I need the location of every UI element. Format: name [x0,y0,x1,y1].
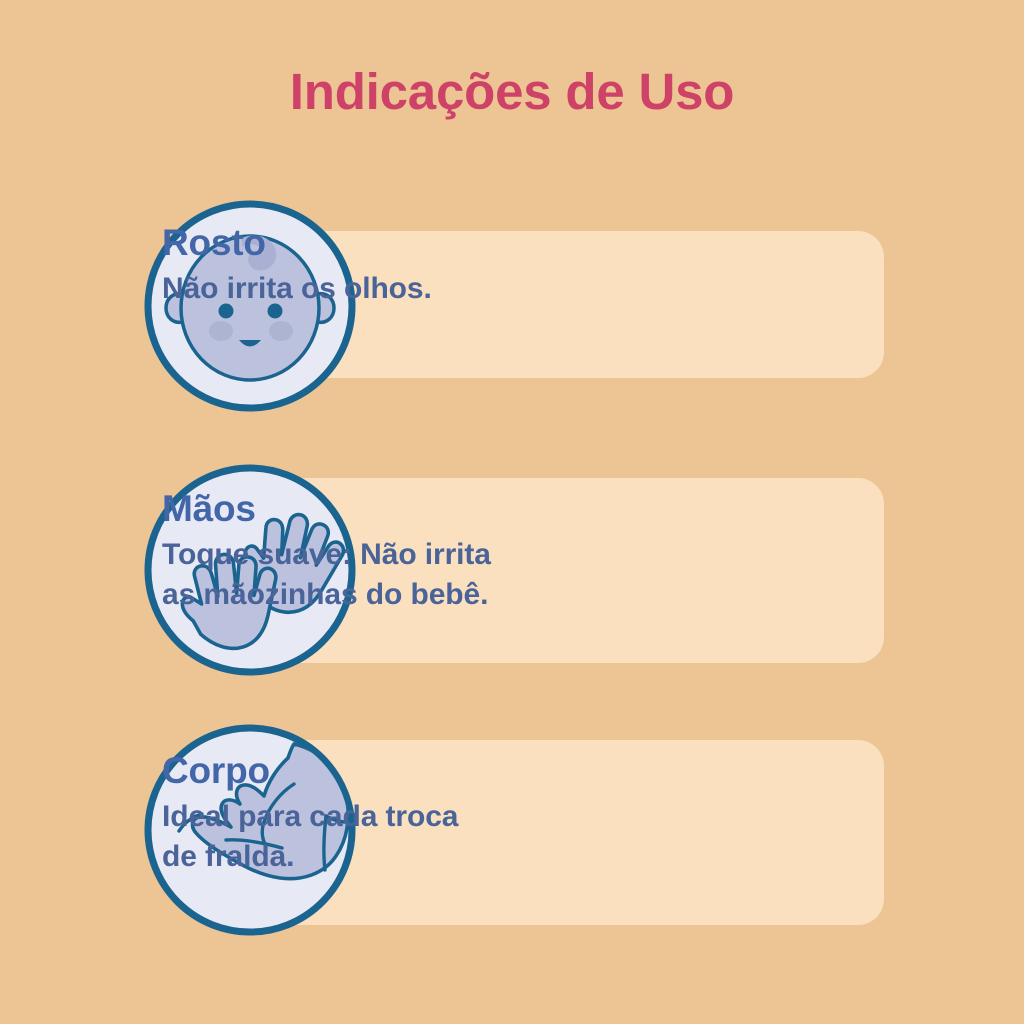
item-title: Corpo [162,752,994,789]
item-description: Toque suave: Não irrita as mãozinhas do … [162,535,994,615]
item-description: Não irrita os olhos. [162,269,994,309]
item-description: Ideal para cada troca de fralda. [162,797,994,877]
item-title: Mãos [162,490,994,527]
item-title: Rosto [162,224,994,261]
item-text-block: Rosto Não irrita os olhos. [162,224,994,309]
usage-item-corpo: Corpo Ideal para cada troca de fralda. [0,722,1024,934]
infographic-poster: Indicações de Uso [0,0,1024,1024]
item-text-block: Mãos Toque suave: Não irrita as mãozinha… [162,490,994,615]
usage-item-rosto: Rosto Não irrita os olhos. [0,198,1024,410]
item-text-block: Corpo Ideal para cada troca de fralda. [162,752,994,877]
usage-item-maos: Mãos Toque suave: Não irrita as mãozinha… [0,462,1024,674]
page-title: Indicações de Uso [0,62,1024,121]
